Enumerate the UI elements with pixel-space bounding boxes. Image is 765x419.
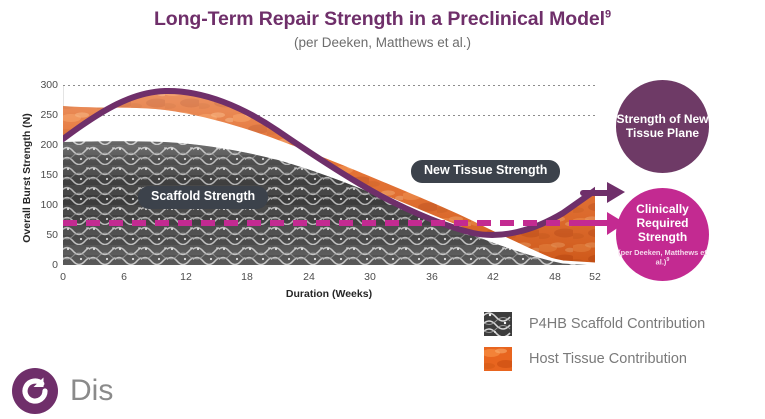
chart-legend: P4HB Scaffold Contribution Host Tissue C… — [484, 312, 759, 382]
page-subtitle: (per Deeken, Matthews et al.) — [0, 35, 765, 50]
x-tick-52: 52 — [589, 271, 601, 283]
x-axis-tick-labels: 0 6 12 18 24 30 36 42 48 52 — [63, 271, 595, 287]
y-tick-50: 50 — [22, 229, 58, 241]
x-tick-24: 24 — [303, 271, 315, 283]
y-tick-250: 250 — [22, 109, 58, 121]
callout-strength-of-new-tissue-plane: Strength of New Tissue Plane — [616, 80, 709, 173]
tissue-texture-swatch-icon — [484, 347, 512, 371]
title-block: Long-Term Repair Strength in a Preclinic… — [0, 8, 765, 50]
x-tick-42: 42 — [487, 271, 499, 283]
page-title-superscript: 9 — [605, 9, 611, 21]
x-tick-6: 6 — [121, 271, 127, 283]
y-tick-300: 300 — [22, 79, 58, 91]
legend-item-host-tissue: Host Tissue Contribution — [484, 347, 759, 371]
brand-name: Dis — [70, 374, 113, 408]
tissue-swatch-svg — [484, 347, 512, 371]
callout-top-text: Strength of New Tissue Plane — [616, 113, 709, 141]
legend-item-scaffold: P4HB Scaffold Contribution — [484, 312, 759, 336]
brand-logo: Dis — [12, 368, 113, 414]
arrow-to-top-callout — [583, 177, 633, 205]
legend-label-scaffold: P4HB Scaffold Contribution — [529, 316, 705, 332]
callout-bottom-subtext: (per Deeken, Matthews et al.)9 — [616, 248, 709, 267]
page-title-text: Long-Term Repair Strength in a Preclinic… — [154, 8, 605, 30]
x-axis-title: Duration (Weeks) — [63, 288, 595, 300]
y-tick-100: 100 — [22, 199, 58, 211]
x-tick-12: 12 — [180, 271, 192, 283]
new-tissue-strength-label: New Tissue Strength — [411, 160, 560, 183]
x-tick-48: 48 — [549, 271, 561, 283]
x-tick-30: 30 — [364, 271, 376, 283]
y-tick-200: 200 — [22, 139, 58, 151]
y-tick-150: 150 — [22, 169, 58, 181]
callout-clinically-required-strength: Clinically Required Strength (per Deeken… — [616, 188, 709, 281]
page-title: Long-Term Repair Strength in a Preclinic… — [154, 8, 611, 30]
callout-bottom-superscript: 9 — [666, 257, 669, 263]
callout-bottom-title: Clinically Required Strength — [616, 203, 709, 245]
x-tick-18: 18 — [241, 271, 253, 283]
scaffold-strength-label: Scaffold Strength — [138, 186, 268, 209]
mesh-swatch-svg — [484, 312, 512, 336]
callout-bottom-subtext-text: (per Deeken, Matthews et al.) — [618, 248, 707, 267]
x-tick-36: 36 — [426, 271, 438, 283]
x-tick-0: 0 — [60, 271, 66, 283]
y-axis-tick-labels: 300 250 200 150 100 50 0 — [22, 72, 58, 265]
plot-area: Scaffold Strength New Tissue Strength — [63, 85, 595, 265]
brand-mark-svg — [12, 368, 58, 414]
legend-label-host-tissue: Host Tissue Contribution — [529, 351, 687, 367]
y-tick-0: 0 — [22, 259, 58, 271]
mesh-texture-swatch-icon — [484, 312, 512, 336]
refresh-arrow-logo-icon — [12, 368, 58, 414]
